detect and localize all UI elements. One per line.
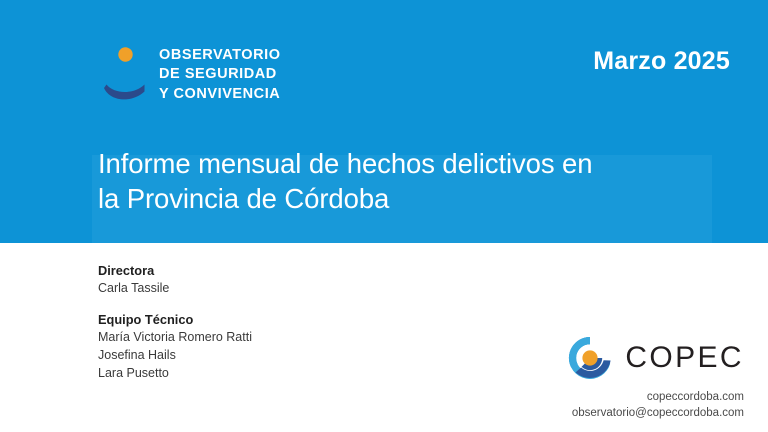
- observatorio-wordmark-line-3: Y CONVIVENCIA: [159, 85, 281, 104]
- copec-wordmark: COPEC: [625, 343, 744, 373]
- observatorio-wordmark: OBSERVATORIO DE SEGURIDAD Y CONVIVENCIA: [159, 46, 281, 103]
- page-title: Informe mensual de hechos delictivos en …: [98, 147, 708, 216]
- credits-block: Directora Carla Tassile Equipo Técnico M…: [98, 262, 252, 382]
- copec-mark-icon: [567, 335, 613, 381]
- copec-email: observatorio@copeccordoba.com: [514, 405, 744, 421]
- credits-person: María Victoria Romero Ratti: [98, 329, 252, 347]
- page-title-line-1: Informe mensual de hechos delictivos en: [98, 147, 708, 182]
- credits-group-equipo-tecnico: Equipo Técnico María Victoria Romero Rat…: [98, 311, 252, 382]
- observatorio-wordmark-line-2: DE SEGURIDAD: [159, 65, 281, 84]
- report-date: Marzo 2025: [593, 49, 730, 74]
- credits-person: Josefina Hails: [98, 347, 252, 365]
- credits-person: Carla Tassile: [98, 280, 252, 298]
- report-cover-page: OBSERVATORIO DE SEGURIDAD Y CONVIVENCIA …: [0, 0, 768, 432]
- copec-website: copeccordoba.com: [514, 389, 744, 405]
- copec-footer-block: COPEC copeccordoba.com observatorio@cope…: [514, 334, 744, 422]
- page-title-line-2: la Provincia de Córdoba: [98, 182, 708, 217]
- credits-group-directora: Directora Carla Tassile: [98, 262, 252, 298]
- credits-role-label: Directora: [98, 262, 252, 280]
- copec-contact: copeccordoba.com observatorio@copeccordo…: [514, 389, 744, 422]
- credits-person: Lara Pusetto: [98, 365, 252, 383]
- observatorio-mark-icon: [97, 43, 149, 107]
- copec-logo: COPEC: [514, 334, 744, 382]
- observatorio-logo: OBSERVATORIO DE SEGURIDAD Y CONVIVENCIA: [97, 42, 327, 108]
- observatorio-wordmark-line-1: OBSERVATORIO: [159, 46, 281, 65]
- credits-role-label: Equipo Técnico: [98, 311, 252, 329]
